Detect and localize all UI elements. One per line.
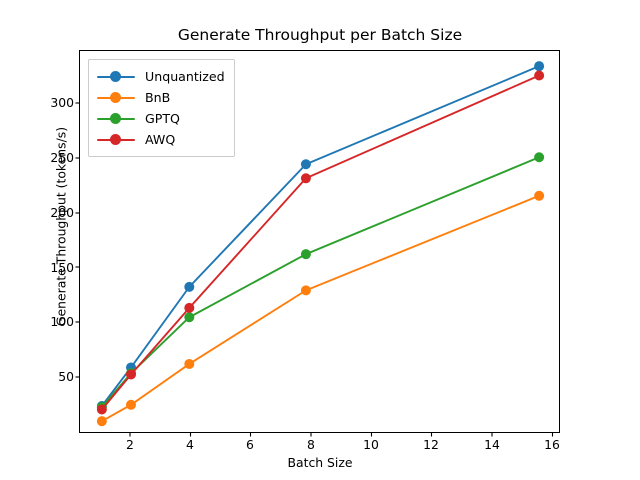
x-tick-10: 10	[351, 438, 391, 451]
legend-item-bnb[interactable]: BnB	[97, 87, 225, 108]
chart-figure: Generate Throughput per Batch Size 300 2…	[0, 0, 640, 480]
data-point	[184, 312, 194, 322]
data-point	[126, 369, 136, 379]
data-point	[301, 173, 311, 183]
data-point	[184, 282, 194, 292]
legend-marker-gptq	[110, 113, 121, 124]
data-point	[534, 191, 544, 201]
x-tick-4: 4	[170, 438, 210, 451]
data-point	[126, 400, 136, 410]
x-tick-2: 2	[110, 438, 150, 451]
legend-marker-bnb	[110, 92, 121, 103]
legend-swatch-gptq	[97, 112, 135, 126]
chart-title: Generate Throughput per Batch Size	[0, 26, 640, 44]
legend-marker-awq	[110, 134, 121, 145]
legend-label-unquantized: Unquantized	[135, 69, 225, 84]
legend-item-gptq[interactable]: GPTQ	[97, 108, 225, 129]
series-gptq	[97, 152, 544, 412]
legend-swatch-awq	[97, 133, 135, 147]
data-point	[534, 71, 544, 81]
data-point	[534, 152, 544, 162]
legend-swatch-bnb	[97, 91, 135, 105]
x-tick-14: 14	[472, 438, 512, 451]
legend-label-gptq: GPTQ	[135, 111, 180, 126]
data-point	[534, 61, 544, 71]
series-bnb	[97, 191, 544, 426]
series-line-gptq	[102, 157, 539, 407]
data-point	[184, 303, 194, 313]
x-tick-12: 12	[411, 438, 451, 451]
legend-marker-unquantized	[110, 71, 121, 82]
legend-item-unquantized[interactable]: Unquantized	[97, 66, 225, 87]
x-axis-label: Batch Size	[0, 455, 640, 470]
data-point	[97, 416, 107, 426]
x-tick-8: 8	[291, 438, 331, 451]
series-line-bnb	[102, 196, 539, 421]
x-tick-6: 6	[230, 438, 270, 451]
data-point	[184, 359, 194, 369]
legend-item-awq[interactable]: AWQ	[97, 129, 225, 150]
data-point	[301, 285, 311, 295]
data-point	[301, 159, 311, 169]
chart-legend: Unquantized BnB GPTQ AWQ	[88, 59, 235, 157]
legend-swatch-unquantized	[97, 70, 135, 84]
x-tick-16: 16	[532, 438, 572, 451]
data-point	[97, 404, 107, 414]
legend-label-awq: AWQ	[135, 132, 175, 147]
legend-label-bnb: BnB	[135, 90, 170, 105]
y-axis-label: Generate Throughput (tokens/s)	[54, 62, 69, 392]
data-point	[301, 249, 311, 259]
